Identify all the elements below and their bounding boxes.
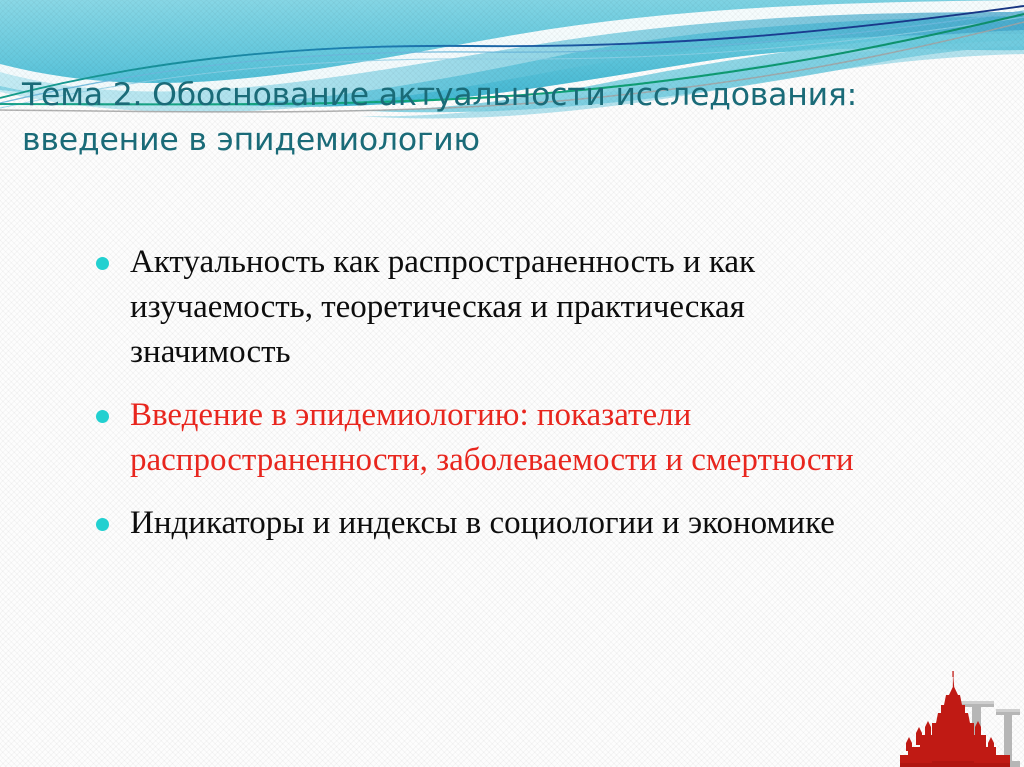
slide-title-line-2: введение в эпидемиологию [22,118,997,163]
bullet-dot-icon [96,518,109,531]
slide-title: Тема 2. Обоснование актуальности исследо… [22,73,997,163]
list-item: Актуальность как распространенность и ка… [96,240,956,375]
slide-title-line-1: Тема 2. Обоснование актуальности исследо… [22,73,997,118]
list-item: Введение в эпидемиологию: показатели рас… [96,393,956,483]
slide-canvas: Тема 2. Обоснование актуальности исследо… [0,0,1024,767]
bullet-dot-icon [96,257,109,270]
list-item: Индикаторы и индексы в социологии и экон… [96,501,956,546]
list-item-label: Актуальность как распространенность и ка… [130,240,900,375]
bullet-dot-icon [96,410,109,423]
list-item-label: Введение в эпидемиологию: показатели рас… [130,393,900,483]
msu-building-logo [892,671,1020,767]
list-item-label: Индикаторы и индексы в социологии и экон… [130,501,835,546]
bullet-list: Актуальность как распространенность и ка… [96,240,956,564]
